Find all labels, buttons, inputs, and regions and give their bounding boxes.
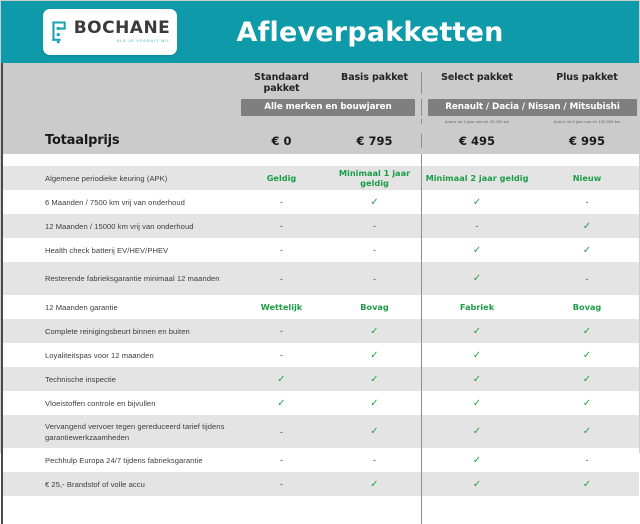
table-row: € 25,- Brandstof of volle accu-✓✓✓: [1, 472, 639, 496]
row-group-b: ✓✓: [421, 415, 640, 448]
cell-plus: ✓: [532, 214, 640, 238]
feature-label-text: Resterende fabrieksgarantie minimaal 12 …: [45, 273, 220, 284]
cell-standaard: -: [235, 448, 328, 472]
banner-label-spacer: [3, 99, 235, 116]
table-row: Resterende fabrieksgarantie minimaal 12 …: [1, 262, 639, 295]
table-row: Vloeistoffen controle en bijvullen✓✓✓✓: [1, 391, 639, 415]
group-banner-row: Alle merken en bouwjaren Renault / Dacia…: [3, 99, 639, 116]
feature-label: Vervangend vervoer tegen gereduceerd tar…: [3, 415, 235, 448]
cell-select: ✓: [422, 415, 532, 448]
cell-select: ✓: [422, 391, 532, 415]
cell-select: ✓: [422, 343, 532, 367]
cell-basis: ✓: [328, 190, 421, 214]
row-group-b: ✓✓: [421, 319, 640, 343]
cell-select: ✓: [422, 472, 532, 496]
cell-plus: ✓: [532, 319, 640, 343]
cell-select: Fabriek: [422, 295, 532, 319]
brand-tagline: ALS JE VOORUIT WIL: [117, 40, 171, 44]
table-row: Pechhulp Europa 24/7 tijdens fabrieksgar…: [1, 448, 639, 472]
package-name-row: Standaard pakket Basis pakket Select pak…: [3, 63, 639, 94]
feature-label-text: € 25,- Brandstof of volle accu: [45, 479, 145, 490]
page-header: BOCHANE ALS JE VOORUIT WIL Afleverpakket…: [1, 1, 639, 63]
row-group-a: --: [235, 214, 421, 238]
cell-plus: -: [532, 190, 640, 214]
cell-plus: -: [532, 448, 640, 472]
group-b-banner-wrap: Renault / Dacia / Nissan / Mitsubishi: [421, 99, 640, 116]
feature-label: € 25,- Brandstof of volle accu: [3, 472, 235, 496]
row-group-b: ✓✓: [421, 472, 640, 496]
cell-select: -: [422, 214, 532, 238]
table-row: Vervangend vervoer tegen gereduceerd tar…: [1, 415, 639, 448]
feature-label: Complete reinigingsbeurt binnen en buite…: [3, 319, 235, 343]
cell-basis: ✓: [328, 319, 421, 343]
cell-basis: ✓: [328, 415, 421, 448]
feature-label: Vloeistoffen controle en bijvullen: [3, 391, 235, 415]
group-a-names: Standaard pakket Basis pakket: [235, 72, 421, 94]
row-group-b: ✓✓: [421, 391, 640, 415]
cell-plus: -: [532, 262, 640, 295]
cell-select: ✓: [422, 319, 532, 343]
cell-plus: ✓: [532, 238, 640, 262]
cell-basis: -: [328, 262, 421, 295]
table-row: 12 Maanden / 15000 km vrij van onderhoud…: [1, 214, 639, 238]
row-group-b: -✓: [421, 214, 640, 238]
price-basis: € 795: [328, 134, 421, 148]
column-note-row: Auto's tot 1 jaar oud en 20.000 km Auto'…: [3, 116, 639, 127]
row-group-b: FabriekBovag: [421, 295, 640, 319]
cell-standaard: -: [235, 262, 328, 295]
row-group-b: ✓-: [421, 448, 640, 472]
row-group-a: GeldigMinimaal 1 jaar geldig: [235, 166, 421, 190]
cell-basis: -: [328, 214, 421, 238]
table-row: Algemene periodieke keuring (APK)GeldigM…: [1, 166, 639, 190]
cell-basis: ✓: [328, 391, 421, 415]
group-a-banner-wrap: Alle merken en bouwjaren: [235, 99, 421, 116]
cell-standaard: ✓: [235, 391, 328, 415]
feature-label: 12 Maanden garantie: [3, 295, 235, 319]
cell-select: ✓: [422, 238, 532, 262]
feature-label-text: Complete reinigingsbeurt binnen en buite…: [45, 326, 190, 337]
row-group-b: Minimaal 2 jaar geldigNieuw: [421, 166, 640, 190]
cell-basis: Minimaal 1 jaar geldig: [328, 166, 421, 190]
row-group-a: -✓: [235, 343, 421, 367]
feature-label: Pechhulp Europa 24/7 tijdens fabrieksgar…: [3, 448, 235, 472]
cell-basis: ✓: [328, 472, 421, 496]
column-note-plus: Auto's tot 5 jaar oud en 100.000 km: [532, 119, 640, 124]
table-row: 12 Maanden garantieWettelijkBovagFabriek…: [1, 295, 639, 319]
price-plus: € 995: [532, 134, 640, 148]
feature-label: 12 Maanden / 15000 km vrij van onderhoud: [3, 214, 235, 238]
cell-select: ✓: [422, 448, 532, 472]
row-group-a: -✓: [235, 319, 421, 343]
feature-label: Loyaliteitspas voor 12 maanden: [3, 343, 235, 367]
column-name-basis: Basis pakket: [328, 72, 421, 94]
table-row: Complete reinigingsbeurt binnen en buite…: [1, 319, 639, 343]
row-group-b: ✓-: [421, 262, 640, 295]
row-group-a: -✓: [235, 472, 421, 496]
feature-label-text: 12 Maanden garantie: [45, 302, 118, 313]
group-b-prices: € 495 € 995: [421, 134, 640, 148]
table-bottom-padding: [1, 496, 639, 524]
cell-plus: ✓: [532, 367, 640, 391]
row-group-b: ✓✓: [421, 343, 640, 367]
table-row: 6 Maanden / 7500 km vrij van onderhoud-✓…: [1, 190, 639, 214]
cell-standaard: -: [235, 415, 328, 448]
cell-standaard: -: [235, 472, 328, 496]
header-label-spacer: [3, 72, 235, 94]
total-price-row: Totaalprijs € 0 € 795 € 495 € 995: [3, 127, 639, 154]
table-row: Technische inspectie✓✓✓✓: [1, 367, 639, 391]
row-group-a: --: [235, 262, 421, 295]
feature-label-text: Algemene periodieke keuring (APK): [45, 173, 167, 184]
cell-plus: Nieuw: [532, 166, 640, 190]
cell-standaard: -: [235, 319, 328, 343]
price-standaard: € 0: [235, 134, 328, 148]
cell-standaard: Geldig: [235, 166, 328, 190]
brand-wordmark: BOCHANE: [74, 20, 171, 37]
table-row: Loyaliteitspas voor 12 maanden-✓✓✓: [1, 343, 639, 367]
row-group-a: --: [235, 238, 421, 262]
feature-label-text: 12 Maanden / 15000 km vrij van onderhoud: [45, 221, 194, 232]
row-group-b: ✓-: [421, 190, 640, 214]
row-group-a: -✓: [235, 415, 421, 448]
cell-plus: ✓: [532, 415, 640, 448]
group-b-notes: Auto's tot 1 jaar oud en 20.000 km Auto'…: [421, 119, 640, 124]
cell-select: ✓: [422, 262, 532, 295]
feature-label-text: Vervangend vervoer tegen gereduceerd tar…: [45, 421, 235, 443]
feature-label: Algemene periodieke keuring (APK): [3, 166, 235, 190]
table-row: Health check batterij EV/HEV/PHEV--✓✓: [1, 238, 639, 262]
feature-label-text: Health check batterij EV/HEV/PHEV: [45, 245, 168, 256]
feature-label-text: Technische inspectie: [45, 374, 116, 385]
feature-table-body: Algemene periodieke keuring (APK)GeldigM…: [1, 166, 639, 496]
cell-basis: -: [328, 448, 421, 472]
column-name-select: Select pakket: [422, 72, 532, 94]
feature-label-text: 6 Maanden / 7500 km vrij van onderhoud: [45, 197, 185, 208]
cell-plus: ✓: [532, 343, 640, 367]
cell-plus: ✓: [532, 472, 640, 496]
header-body-spacer: [1, 154, 639, 166]
cell-basis: ✓: [328, 367, 421, 391]
cell-basis: -: [328, 238, 421, 262]
cell-plus: ✓: [532, 391, 640, 415]
cell-select: ✓: [422, 367, 532, 391]
cell-select: ✓: [422, 190, 532, 214]
row-group-a: WettelijkBovag: [235, 295, 421, 319]
group-b-names: Select pakket Plus pakket: [421, 72, 640, 94]
row-group-b: ✓✓: [421, 367, 640, 391]
row-group-a: -✓: [235, 190, 421, 214]
bochane-mark-icon: [50, 19, 69, 45]
row-group-a: ✓✓: [235, 391, 421, 415]
cell-plus: Bovag: [532, 295, 640, 319]
afleverpakketten-price-sheet: BOCHANE ALS JE VOORUIT WIL Afleverpakket…: [0, 0, 640, 453]
feature-label: 6 Maanden / 7500 km vrij van onderhoud: [3, 190, 235, 214]
feature-label: Technische inspectie: [3, 367, 235, 391]
cell-standaard: -: [235, 190, 328, 214]
cell-select: Minimaal 2 jaar geldig: [422, 166, 532, 190]
brand-logo: BOCHANE ALS JE VOORUIT WIL: [43, 9, 177, 55]
cell-basis: ✓: [328, 343, 421, 367]
feature-label: Health check batterij EV/HEV/PHEV: [3, 238, 235, 262]
feature-label-text: Vloeistoffen controle en bijvullen: [45, 398, 155, 409]
total-price-label: Totaalprijs: [3, 133, 235, 148]
row-group-b: ✓✓: [421, 238, 640, 262]
price-select: € 495: [422, 134, 532, 148]
column-note-select: Auto's tot 1 jaar oud en 20.000 km: [422, 119, 532, 124]
cell-standaard: -: [235, 343, 328, 367]
table-header: Standaard pakket Basis pakket Select pak…: [1, 63, 639, 154]
cell-standaard: ✓: [235, 367, 328, 391]
group-a-prices: € 0 € 795: [235, 134, 421, 148]
cell-standaard: Wettelijk: [235, 295, 328, 319]
column-name-plus: Plus pakket: [532, 72, 640, 94]
cell-standaard: -: [235, 238, 328, 262]
group-a-banner: Alle merken en bouwjaren: [241, 99, 415, 116]
row-group-a: --: [235, 448, 421, 472]
group-b-banner: Renault / Dacia / Nissan / Mitsubishi: [428, 99, 637, 116]
cell-basis: Bovag: [328, 295, 421, 319]
feature-label-text: Pechhulp Europa 24/7 tijdens fabrieksgar…: [45, 455, 203, 466]
feature-label-text: Loyaliteitspas voor 12 maanden: [45, 350, 154, 361]
cell-standaard: -: [235, 214, 328, 238]
column-name-standaard: Standaard pakket: [235, 72, 328, 94]
row-group-a: ✓✓: [235, 367, 421, 391]
feature-label: Resterende fabrieksgarantie minimaal 12 …: [3, 262, 235, 295]
